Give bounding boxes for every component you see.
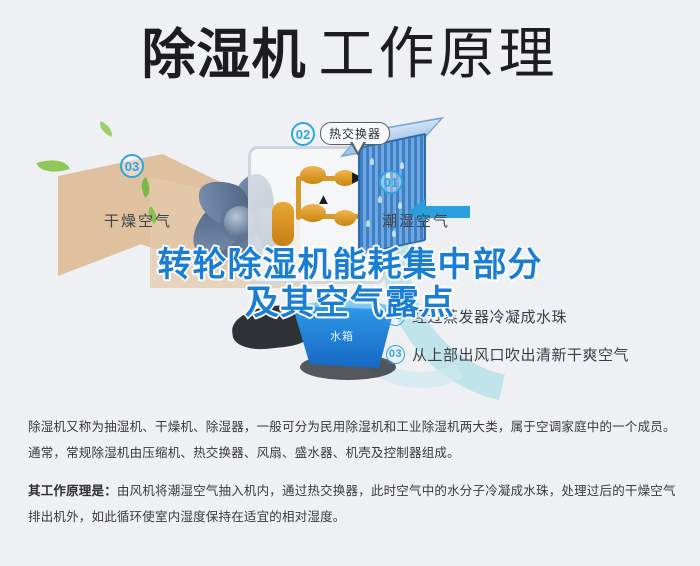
title-light-part: 工作原理 [319, 22, 559, 85]
page-title: 除湿机工作原理 [0, 26, 700, 82]
body-paragraph-2-lead: 其工作原理是： [28, 484, 117, 498]
condenser-coil [300, 166, 326, 184]
water-droplet-icon [378, 196, 382, 203]
step-text-02: 经过蒸发器冷凝成水珠 [412, 309, 567, 326]
body-paragraph-2: 其工作原理是：由风机将潮湿空气抽入机内，通过热交换器，此时空气中的水分子冷凝成水… [28, 479, 676, 530]
step-badge-03: 03 [386, 345, 405, 364]
title-strong-part: 除湿机 [142, 25, 307, 85]
humid-air-label: 潮湿空气 [382, 210, 450, 231]
callout-badge-03: 03 [120, 154, 144, 178]
body-paragraph-1: 除湿机又称为抽湿机、干燥机、除湿器，一般可分为民用除湿机和工业除湿机两大类，属于… [28, 415, 676, 466]
dry-air-label: 干燥空气 [104, 210, 172, 231]
callout-badge-02: 02 [291, 122, 315, 146]
water-droplet-icon [392, 230, 396, 237]
flow-arrow-up-icon: ▲ [316, 192, 331, 207]
heat-exchanger-callout-pointer [350, 142, 366, 156]
water-droplet-icon [400, 162, 404, 169]
step-badge-02: 02 [386, 307, 405, 326]
body-paragraph-2-rest: 由风机将潮湿空气抽入机内，通过热交换器，此时空气中的水分子冷凝成水珠，处理过后的… [28, 484, 676, 524]
callout-badge-01: 01 [379, 170, 403, 194]
step-text-03: 从上部出风口吹出清新干爽空气 [412, 347, 629, 364]
water-droplet-icon [366, 220, 370, 227]
compressor-illustration [272, 202, 294, 246]
leaf-icon [97, 121, 116, 137]
page-root: 除湿机工作原理 ▲ ▶ ▼ [0, 0, 700, 566]
article-body: 除湿机又称为抽湿机、干燥机、除湿器，一般可分为民用除湿机和工业除湿机两大类，属于… [28, 415, 676, 544]
condenser-coil [334, 210, 356, 226]
step-caption-02: 02经过蒸发器冷凝成水珠 [386, 306, 567, 327]
water-tank-label: 水箱 [330, 328, 354, 344]
step-caption-03: 03从上部出风口吹出清新干爽空气 [386, 344, 629, 365]
dehumidifier-diagram: ▲ ▶ ▼ 水箱 03 02 01 热交换器 干燥空气 潮湿空气 02经过蒸发器… [0, 110, 700, 400]
water-droplet-icon [370, 158, 374, 165]
water-droplet-icon [398, 202, 402, 209]
heat-exchanger-fins [358, 133, 426, 255]
